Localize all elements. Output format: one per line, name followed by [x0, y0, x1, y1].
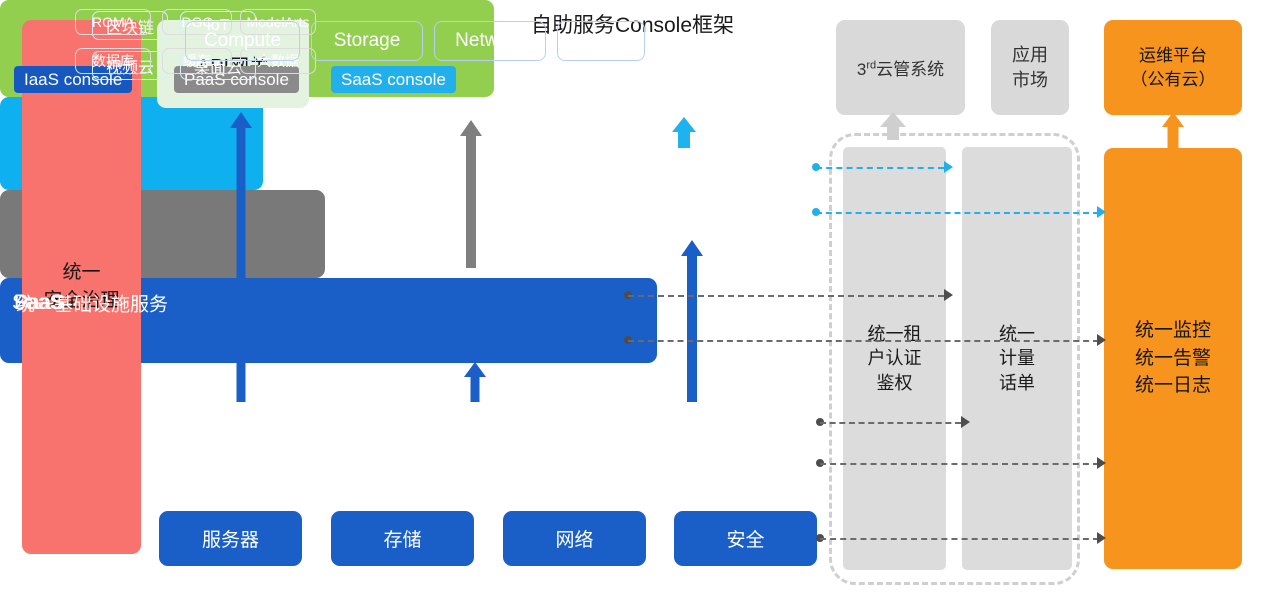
ops-platform-box: 运维平台 （公有云）: [1104, 20, 1242, 115]
arrow-infra-to-saas: [680, 240, 704, 402]
arrow-head-icon: [1097, 206, 1106, 218]
ops-platform-line-2: （公有云）: [1131, 68, 1216, 92]
arrow-shaft: [466, 132, 476, 268]
third-party-cloud-mgmt-box: 3rd云管系统: [836, 20, 965, 115]
arrow-saas-to-console: [672, 117, 696, 148]
arrow-head-icon: [464, 362, 486, 377]
arrow-shaft: [678, 130, 690, 148]
metering-line-3: 话单: [999, 371, 1035, 395]
monitoring-line-3: 统一日志: [1135, 372, 1211, 400]
monitoring-line-2: 统一告警: [1135, 345, 1211, 373]
arrow-shaft: [1168, 126, 1179, 150]
hardware-box-security[interactable]: 安全: [674, 511, 817, 566]
infra-chip-compute[interactable]: Compute: [185, 21, 300, 61]
auth-line-2: 户认证: [868, 346, 922, 370]
ops-platform-line-1: 运维平台: [1131, 44, 1216, 68]
unified-monitoring-panel: 统一监控 统一告警 统一日志: [1104, 148, 1242, 569]
arrow-shaft: [471, 376, 480, 402]
arrow-shaft: [237, 124, 246, 402]
paas-chip-database[interactable]: 数据库: [75, 48, 151, 74]
saas-console-chip[interactable]: SaaS console: [331, 66, 456, 93]
paas-chip-roma[interactable]: ROMA: [75, 9, 151, 35]
arrow-infra-to-paas: [464, 362, 486, 402]
arrow-head-icon: [1097, 532, 1106, 544]
auth-line-1: 统一租: [868, 322, 922, 346]
arrow-paas-to-console: [459, 120, 483, 268]
security-governance-panel: 统一 安全治理: [22, 20, 141, 554]
metering-line-1: 统一: [999, 322, 1035, 346]
arrow-shaft: [887, 125, 899, 140]
auth-line-3: 鉴权: [868, 371, 922, 395]
infra-chip-storage[interactable]: Storage: [311, 21, 423, 61]
hardware-box-storage[interactable]: 存储: [331, 511, 474, 566]
unified-tenant-auth-column: 统一租 户认证 鉴权: [843, 147, 946, 570]
third-party-label: 3rd云管系统: [857, 55, 944, 80]
dashed-line-saas-to-auth: [816, 167, 944, 169]
arrow-head-icon: [1097, 457, 1106, 469]
arrow-head-icon: [944, 289, 953, 301]
hardware-box-server[interactable]: 服务器: [159, 511, 302, 566]
dashed-line-hardware-to-monitoring: [820, 538, 1099, 540]
arrow-head-icon: [944, 161, 953, 173]
security-line-1: 统一: [43, 259, 119, 287]
app-market-line-1: 应用: [1012, 43, 1048, 67]
unified-metering-column: 统一 计量 话单: [962, 147, 1072, 570]
arrow-head-icon: [961, 416, 970, 428]
arrow-head-icon: [1097, 334, 1106, 346]
infrastructure-label: 统一基础设施服务: [16, 289, 168, 316]
dashed-line-infra-to-metering: [820, 422, 961, 424]
dashed-line-saas-to-monitoring: [816, 212, 1099, 214]
monitoring-line-1: 统一监控: [1135, 317, 1211, 345]
dashed-line-paas-to-monitoring: [628, 340, 1099, 342]
infra-chip-network[interactable]: Network: [434, 21, 546, 61]
arrow-head-icon: [1162, 112, 1184, 127]
app-market-line-2: 市场: [1012, 68, 1048, 92]
app-market-box: 应用 市场: [991, 20, 1069, 115]
arrow-infra-to-api-gateway: [229, 112, 253, 402]
metering-line-2: 计量: [999, 346, 1035, 370]
hardware-box-network[interactable]: 网络: [503, 511, 646, 566]
arrow-zone-to-ops-platform: [1161, 112, 1185, 150]
arrow-zone-to-third-party: [880, 112, 906, 140]
dashed-line-paas-to-auth: [628, 295, 944, 297]
infra-chip-cce[interactable]: CCE: [557, 21, 645, 61]
dashed-line-infra-to-monitoring: [820, 463, 1099, 465]
arrow-shaft: [687, 254, 697, 402]
